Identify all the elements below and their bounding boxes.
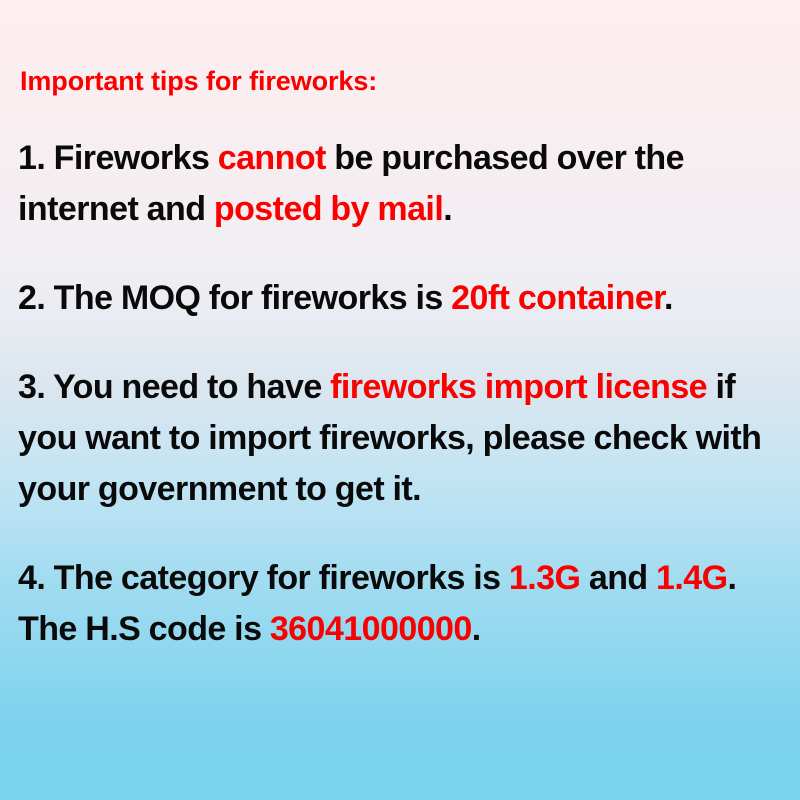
tip-1-lead-text: 1. Fireworks — [18, 139, 218, 177]
tip-1-highlight-posted-by-mail: posted by mail — [214, 190, 443, 228]
tip-3-highlight-import-license: fireworks import license — [330, 368, 707, 406]
page-title: Important tips for fireworks: — [20, 64, 786, 98]
tip-item-3: 3. You need to have fireworks import lic… — [18, 362, 786, 515]
fireworks-notice-card: Important tips for fireworks: 1. Firewor… — [0, 0, 800, 800]
tip-2-lead-text: 2. The MOQ for fireworks is — [18, 279, 451, 317]
tip-3-lead-text: 3. You need to have — [18, 368, 330, 406]
notice-content: Important tips for fireworks: 1. Firewor… — [18, 64, 786, 655]
tip-4-highlight-class-13g: 1.3G — [509, 559, 581, 597]
tip-4-highlight-class-14g: 1.4G — [656, 559, 728, 597]
tip-4-tail-text: . — [472, 610, 481, 648]
tip-2-highlight-moq: 20ft container — [451, 279, 664, 317]
tip-1-highlight-cannot: cannot — [218, 139, 326, 177]
tip-1-tail-text: . — [443, 190, 452, 228]
tip-item-1: 1. Fireworks cannot be purchased over th… — [18, 133, 786, 235]
tip-item-4: 4. The category for fireworks is 1.3G an… — [18, 553, 786, 655]
tip-4-lead-text: 4. The category for fireworks is — [18, 559, 509, 597]
tip-2-tail-text: . — [664, 279, 673, 317]
tip-4-highlight-hs-code: 36041000000 — [270, 610, 472, 648]
tip-item-2: 2. The MOQ for fireworks is 20ft contain… — [18, 273, 786, 324]
tip-4-conjunction-text: and — [580, 559, 656, 597]
